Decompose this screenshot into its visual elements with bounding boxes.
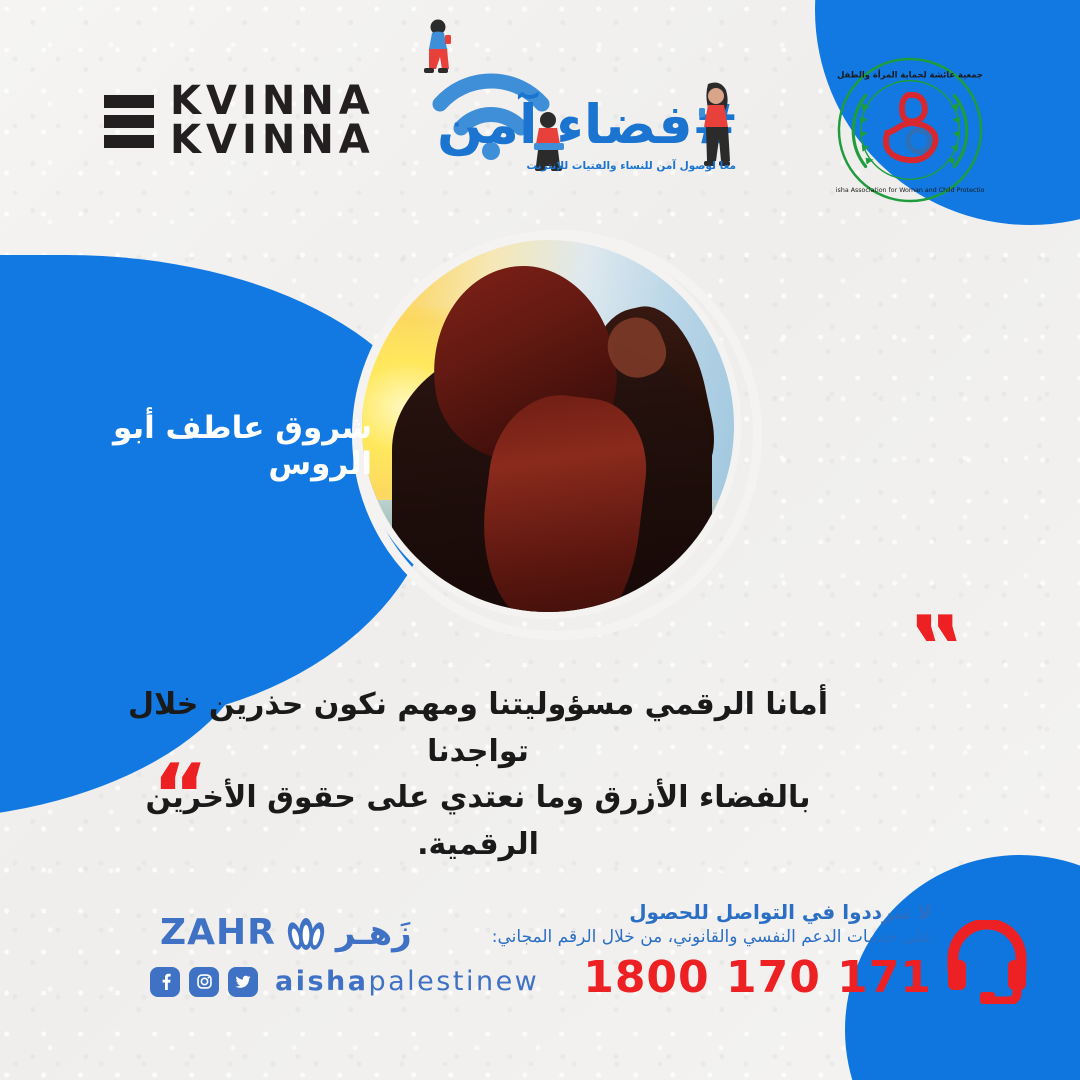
svg-text:Aisha Association for Woman an: Aisha Association for Woman and Child Pr… bbox=[836, 187, 984, 194]
zahr-arabic-wordmark: زَهـر bbox=[336, 913, 412, 953]
quote-line-1: أمانا الرقمي مسؤوليتنا ومهم نكون حذرين خ… bbox=[120, 682, 836, 775]
girl-on-wifi-illustration bbox=[412, 18, 464, 80]
kvinna-logo: KVINNA KVINNA bbox=[104, 82, 375, 160]
zahr-english-wordmark: ZAHR bbox=[160, 912, 276, 953]
aisha-association-logo: جمعية عائشة لحماية المرأة والطفل Aisha A… bbox=[836, 56, 984, 204]
portrait-ring bbox=[352, 230, 762, 640]
headset-icon bbox=[944, 920, 1030, 1004]
hotline-heading: لا تترددوا في التواصل للحصول bbox=[492, 900, 932, 925]
social-media-row[interactable]: aishapalestinew bbox=[150, 966, 539, 997]
hotline-block: لا تترددوا في التواصل للحصول على خدمات ا… bbox=[492, 900, 932, 1003]
kvinna-wordmark: KVINNA KVINNA bbox=[170, 82, 375, 160]
campaign-logo: #فضاء آمن معا لوصول آمن للنساء والفتيات … bbox=[398, 14, 738, 194]
hotline-number[interactable]: 1800 170 171 bbox=[492, 952, 932, 1003]
hotline-subheading: على خدمات الدعم النفسي والقانوني، من خلا… bbox=[492, 926, 932, 948]
quote-close-mark: “ bbox=[152, 766, 209, 826]
social-handle-bold: aisha bbox=[275, 966, 369, 997]
speaker-name-banner: شروق عاطف أبو الروس bbox=[0, 410, 392, 482]
quote-open-mark: ” bbox=[908, 618, 965, 678]
kvinna-line-1: KVINNA bbox=[170, 82, 375, 121]
campaign-tagline: معا لوصول آمن للنساء والفتيات للإنترنت bbox=[527, 160, 737, 172]
instagram-icon[interactable] bbox=[189, 967, 219, 997]
poster-canvas: KVINNA KVINNA #فضاء آمن bbox=[0, 0, 1080, 1080]
zahr-logo: زَهـر ZAHR bbox=[160, 912, 412, 953]
svg-text:جمعية عائشة لحماية المرأة والط: جمعية عائشة لحماية المرأة والطفل bbox=[837, 69, 983, 81]
kvinna-bars-icon bbox=[104, 95, 154, 148]
quote-text: أمانا الرقمي مسؤوليتنا ومهم نكون حذرين خ… bbox=[120, 682, 836, 868]
quote-line-2: بالفضاء الأزرق وما نعتدي على حقوق الأخري… bbox=[120, 775, 836, 868]
lotus-icon bbox=[285, 916, 327, 950]
kvinna-line-2: KVINNA bbox=[170, 121, 375, 160]
twitter-icon[interactable] bbox=[228, 967, 258, 997]
campaign-hashtag: #فضاء آمن bbox=[437, 98, 738, 152]
facebook-icon[interactable] bbox=[150, 967, 180, 997]
